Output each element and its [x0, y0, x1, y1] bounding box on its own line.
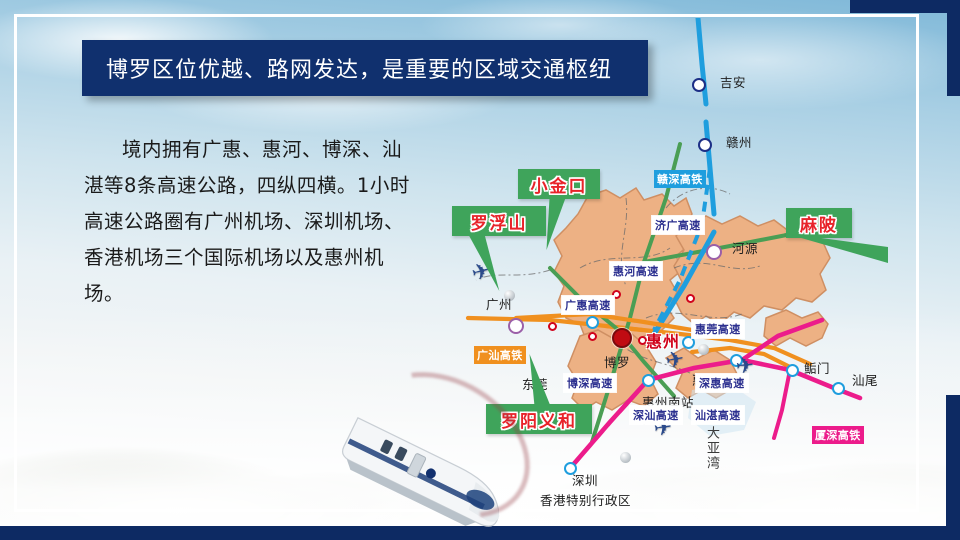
- chip-shenhui-expressway: 深惠高速: [696, 374, 748, 392]
- bay-label-dayawan: 大亚湾: [702, 426, 721, 471]
- city-label-huizhou: 惠州: [646, 328, 680, 352]
- interchange-icon-boluo: [588, 332, 597, 341]
- station-dot-guangzhou: [508, 318, 524, 334]
- slide-root: 博罗区位优越、路网发达，是重要的区域交通枢纽 境内拥有广惠、惠河、博深、汕湛等8…: [0, 0, 960, 540]
- chip-boshen-expressway: 博深高速: [564, 374, 616, 392]
- city-label-shenzhen: 深圳: [572, 470, 598, 489]
- airport-dot-huizhou: [698, 344, 709, 355]
- chip-shenshan-expressway: 深汕高速: [630, 406, 682, 424]
- airplane-icon-huizhou: ✈: [664, 349, 686, 374]
- city-label-boluo: 博罗: [604, 352, 630, 371]
- callout-xiaojinkou-label: 小金口: [531, 172, 588, 197]
- interchange-icon-west: [548, 322, 557, 331]
- city-label-goumen: 鲘门: [804, 358, 830, 377]
- interchange-icon-north: [686, 294, 695, 303]
- city-label-shanwei: 汕尾: [852, 370, 878, 389]
- chip-ganshen-hsr: 赣深高铁: [654, 170, 706, 188]
- city-label-guangzhou: 广州: [486, 294, 512, 313]
- city-label-heyuan: 河源: [732, 238, 758, 257]
- station-dot-zengcheng: [586, 316, 599, 329]
- chip-jiguang-expressway: 济广高速: [652, 216, 704, 234]
- station-dot-goumen: [786, 364, 799, 377]
- city-label-hongkong: 香港特别行政区: [540, 490, 631, 509]
- chip-guanghui-expressway: 广惠高速: [562, 296, 614, 314]
- airport-dot-shenzhen: [620, 452, 631, 463]
- chip-shanzhan-expressway: 汕湛高速: [692, 406, 744, 424]
- station-dot-jian: [692, 78, 706, 92]
- high-speed-train-image: [338, 372, 538, 532]
- station-dot-boluo: [612, 328, 632, 348]
- city-label-ganzhou: 赣州: [726, 132, 752, 151]
- chip-xiashen-hsr: 厦深高铁: [812, 426, 864, 444]
- body-paragraph: 境内拥有广惠、惠河、博深、汕湛等8条高速公路，四纵四横。1小时高速公路圈有广州机…: [84, 132, 414, 312]
- station-dot-heyuan: [706, 244, 722, 260]
- callout-luofushan-label: 罗浮山: [471, 209, 528, 234]
- chip-huihe-expressway: 惠河高速: [610, 262, 662, 280]
- railway-goumen-branch: [774, 370, 790, 438]
- station-dot-shanwei: [832, 382, 845, 395]
- station-dot-ganzhou: [698, 138, 712, 152]
- chip-huiguan-expressway: 惠莞高速: [692, 320, 744, 338]
- chip-guangshan-hsr: 广汕高铁: [474, 346, 526, 364]
- station-dot-pingshan: [642, 374, 655, 387]
- city-label-jian: 吉安: [720, 72, 746, 91]
- callout-luofushan[interactable]: 罗浮山: [452, 206, 546, 236]
- callout-xiaojinkou[interactable]: 小金口: [518, 169, 600, 199]
